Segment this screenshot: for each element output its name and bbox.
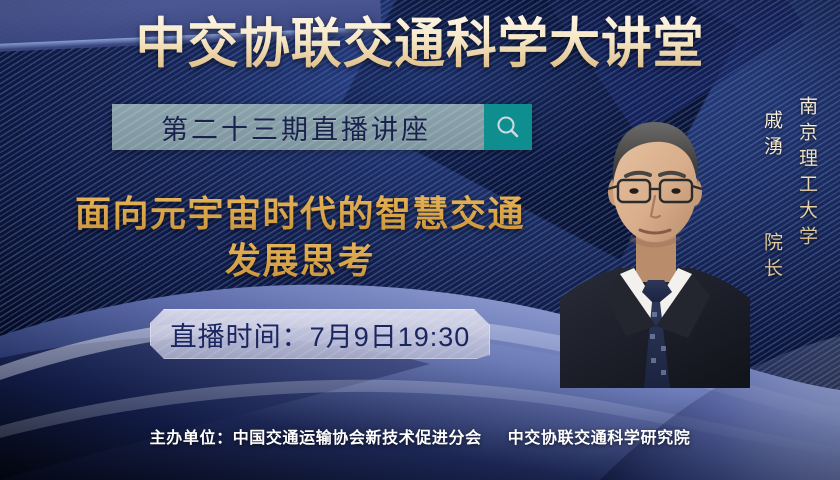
footer-organizers: 主办单位：中国交通运输协会新技术促进分会中交协联交通科学研究院 — [0, 424, 840, 448]
portrait-eye-left — [629, 188, 638, 194]
speaker-portrait — [560, 88, 750, 388]
episode-label-field[interactable]: 第二十三期直播讲座 — [112, 104, 484, 150]
search-button[interactable] — [484, 104, 532, 150]
speaker-title: 院长 — [761, 232, 782, 284]
search-icon — [495, 114, 521, 140]
lecture-title: 面向元宇宙时代的智慧交通 发展思考 — [40, 190, 560, 284]
poster-root: 南京理工大学 戚湧 院长 中交协联交通科学大讲堂 第二十三期直播讲座 面向元宇宙… — [0, 0, 840, 480]
lecture-title-line-1: 面向元宇宙时代的智慧交通 — [40, 190, 560, 237]
portrait-svg — [560, 88, 750, 388]
episode-search-bar[interactable]: 第二十三期直播讲座 — [112, 104, 532, 150]
speaker-name: 戚湧 — [761, 110, 782, 162]
episode-label: 第二十三期直播讲座 — [161, 108, 435, 147]
portrait-eye-right — [671, 188, 680, 194]
speaker-organization: 南京理工大学 — [793, 96, 820, 252]
page-title: 中交协联交通科学大讲堂 — [25, 14, 815, 74]
footer-org-1: 中国交通运输协会新技术促进分会 — [233, 430, 482, 447]
footer-org-2: 中交协联交通科学研究院 — [508, 430, 691, 447]
speaker-name-title: 戚湧 院长 — [758, 110, 785, 284]
schedule-label: 直播时间：7月9日19:30 — [170, 315, 471, 354]
footer-prefix: 主办单位： — [150, 430, 233, 447]
schedule-badge: 直播时间：7月9日19:30 — [150, 309, 490, 359]
lecture-title-line-2: 发展思考 — [40, 237, 560, 284]
